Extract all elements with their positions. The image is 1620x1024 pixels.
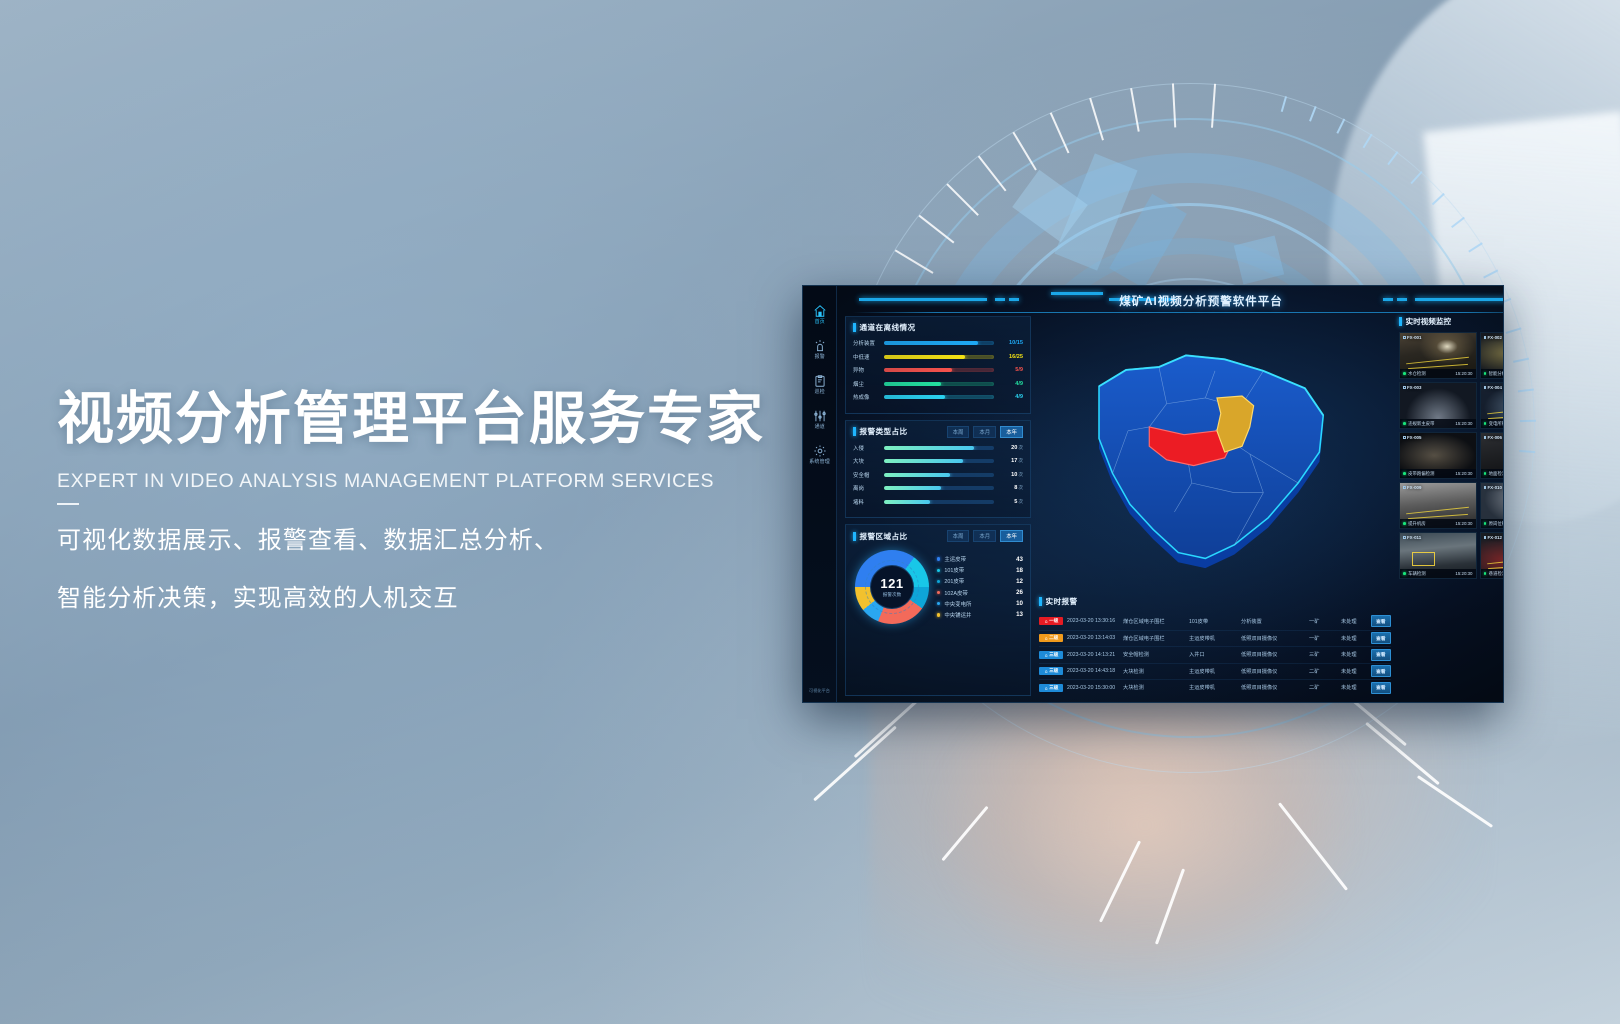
channel-status-header: 通道在离线情况 bbox=[853, 322, 1023, 333]
video-panel-header: 实时视频监控 上一页 下一页 bbox=[1399, 316, 1504, 327]
hero-divider bbox=[57, 503, 79, 505]
camera-icon bbox=[1403, 336, 1406, 339]
legend-value: 26 bbox=[1009, 589, 1023, 596]
online-status-dot bbox=[1403, 372, 1406, 375]
detection-box bbox=[1503, 548, 1504, 563]
decor-tick-small bbox=[1281, 96, 1287, 112]
decor-beam-5 bbox=[1099, 840, 1141, 922]
alarm-type-fill bbox=[884, 459, 963, 463]
sidebar-item-system-label: 系统管理 bbox=[809, 459, 830, 465]
camera-icon bbox=[1484, 336, 1487, 339]
camera-icon bbox=[1403, 436, 1406, 439]
channel-status-panel: 通道在离线情况 分析装置10/15中低速16/25异物5/9烟尘4/9热成像4/… bbox=[845, 316, 1031, 414]
alarm-mine: 二矿 bbox=[1309, 684, 1337, 691]
decor-tick bbox=[1130, 88, 1140, 132]
title-accent-bar bbox=[853, 532, 856, 541]
title-accent-bar bbox=[853, 427, 856, 436]
decor-tick bbox=[1050, 112, 1070, 153]
camera-icon bbox=[1403, 386, 1406, 389]
legend-item[interactable]: 中央变电所10 bbox=[937, 600, 1023, 608]
legend-item[interactable]: 主运皮带43 bbox=[937, 555, 1023, 563]
channel-status-row: 异物5/9 bbox=[853, 366, 1023, 374]
detection-box bbox=[1503, 348, 1504, 363]
decor-shard-1 bbox=[1054, 153, 1137, 270]
video-name: 巷道检测 bbox=[1489, 571, 1504, 577]
status-badge: 三级 bbox=[1039, 651, 1063, 659]
alarm-area-header: 报警区域占比 本周本月本年 bbox=[853, 530, 1023, 542]
channel-row-track bbox=[884, 395, 994, 399]
alarm-type-row: 安全帽10次 bbox=[853, 471, 1023, 479]
realtime-alarm-title: 实时报警 bbox=[1046, 596, 1078, 607]
donut-total-value: 121 bbox=[880, 576, 903, 591]
decor-beam-1 bbox=[813, 726, 897, 802]
decor-tick-small bbox=[1483, 269, 1498, 278]
legend-value: 43 bbox=[1009, 556, 1023, 563]
decor-tick-small bbox=[1513, 358, 1529, 363]
sidebar-item-inspection[interactable]: 巡检 bbox=[813, 374, 827, 395]
tab-本年[interactable]: 本年 bbox=[1000, 426, 1023, 438]
video-tile[interactable]: FX-003违规新主皮带15:20:30 bbox=[1399, 382, 1477, 429]
decor-tick-small bbox=[1410, 171, 1422, 184]
alarm-type-list: 入侵20次大块17次安全帽10次离岗8次堵料5次 bbox=[853, 444, 1023, 506]
table-row[interactable]: 二级2023-03-20 13:14:03煤仓区域电子围栏主运皮带机低照双目摄像… bbox=[1039, 630, 1391, 647]
decor-shard-3 bbox=[1234, 236, 1284, 285]
header-underline bbox=[853, 312, 1504, 313]
channel-row-value: 16/25 bbox=[999, 354, 1023, 360]
alarm-position: 101皮带 bbox=[1189, 618, 1237, 625]
channel-row-value: 5/9 bbox=[999, 367, 1023, 373]
decor-beam-6 bbox=[1155, 868, 1185, 944]
alarm-type-fill bbox=[884, 446, 974, 450]
camera-id: FX-004 bbox=[1484, 385, 1502, 390]
dashboard-main: 煤矿AI视频分析预警软件平台 通道在离线情况 分析装置10/15中低速16/25… bbox=[837, 286, 1504, 702]
camera-icon bbox=[1484, 486, 1487, 489]
alarm-action: 查看 bbox=[1371, 632, 1391, 644]
video-tile[interactable]: FX-002智能分析检测15:20:30 bbox=[1480, 332, 1505, 379]
decor-tick-small bbox=[1506, 327, 1522, 334]
video-tile[interactable]: FX-009提升机房15:20:30 bbox=[1399, 482, 1477, 529]
alarm-status: 未处理 bbox=[1341, 618, 1367, 625]
page-title: 视频分析管理平台服务专家 bbox=[57, 388, 817, 452]
video-tile[interactable]: FX-004变电所检测15:20:30 bbox=[1480, 382, 1505, 429]
decor-tick bbox=[919, 215, 955, 244]
online-status-dot bbox=[1484, 422, 1487, 425]
legend-label: 201皮带 bbox=[944, 577, 1005, 585]
legend-value: 13 bbox=[1009, 611, 1023, 618]
legend-color-dot bbox=[937, 602, 940, 605]
alarm-type-panel: 报警类型占比 本周本月本年 入侵20次大块17次安全帽10次离岗8次堵料5次 bbox=[845, 420, 1031, 519]
tab-本年[interactable]: 本年 bbox=[1000, 530, 1023, 542]
channel-status-title: 通道在离线情况 bbox=[860, 322, 916, 333]
channel-row-label: 分析装置 bbox=[853, 339, 879, 347]
video-name: 水仓检测 bbox=[1408, 371, 1426, 377]
decor-tick-small bbox=[1309, 106, 1317, 122]
alarm-time: 2023-03-20 15:30:00 bbox=[1067, 685, 1119, 691]
channel-row-fill bbox=[884, 382, 941, 386]
online-status-dot bbox=[1484, 372, 1487, 375]
alarm-type-fill bbox=[884, 486, 941, 490]
realtime-alarm-header: 实时报警 bbox=[1039, 596, 1391, 607]
alarm-device: 低照双目摄像仪 bbox=[1241, 668, 1305, 675]
legend-label: 中央变电所 bbox=[944, 600, 1005, 608]
camera-id: FX-006 bbox=[1484, 435, 1502, 440]
alarm-type-track bbox=[884, 500, 994, 504]
alarm-type-label: 大块 bbox=[853, 457, 879, 465]
camera-id-label: FX-010 bbox=[1488, 485, 1502, 490]
online-status-dot bbox=[1403, 422, 1406, 425]
channel-status-row: 分析装置10/15 bbox=[853, 339, 1023, 347]
camera-id-label: FX-005 bbox=[1407, 435, 1421, 440]
video-timestamp: 15:20:30 bbox=[1455, 421, 1472, 426]
video-tile[interactable]: FX-001水仓检测15:20:30 bbox=[1399, 332, 1477, 379]
donut-chart: 121 报警次数 bbox=[855, 550, 929, 624]
alarm-type: 煤仓区域电子围栏 bbox=[1123, 635, 1185, 642]
alarm-time: 2023-03-20 13:14:03 bbox=[1067, 635, 1119, 641]
table-row[interactable]: 一级2023-03-20 13:30:16煤仓区域电子围栏101皮带分析装置一矿… bbox=[1039, 613, 1391, 630]
decor-beam-4 bbox=[1365, 722, 1440, 785]
channel-row-label: 热成像 bbox=[853, 393, 879, 401]
channel-status-row: 中低速16/25 bbox=[853, 353, 1023, 361]
alarm-type-track bbox=[884, 446, 994, 450]
alarm-action: 查看 bbox=[1371, 665, 1391, 677]
channel-row-track bbox=[884, 368, 994, 372]
legend-item[interactable]: 201皮带12 bbox=[937, 577, 1023, 585]
right-column: 实时视频监控 上一页 下一页 FX-001水仓检测15:20:30FX-002智… bbox=[1399, 316, 1504, 696]
channel-row-value: 4/9 bbox=[999, 381, 1023, 387]
legend-color-dot bbox=[937, 580, 940, 583]
detection-line bbox=[1487, 407, 1504, 414]
decor-tick bbox=[1012, 132, 1036, 171]
alarm-status: 未处理 bbox=[1341, 668, 1367, 675]
alarm-action: 查看 bbox=[1371, 615, 1391, 627]
camera-id-label: FX-012 bbox=[1488, 535, 1502, 540]
decor-tick bbox=[1089, 98, 1104, 141]
sidebar-item-home[interactable]: 首页 bbox=[813, 304, 827, 325]
video-timestamp: 15:20:30 bbox=[1455, 471, 1472, 476]
sidebar-item-inspection-label: 巡检 bbox=[814, 389, 824, 395]
status-badge-label: 一级 bbox=[1049, 618, 1058, 624]
channel-row-track bbox=[884, 355, 994, 359]
channel-row-value: 10/15 bbox=[999, 340, 1023, 346]
decor-tick-small bbox=[1336, 119, 1345, 134]
legend-color-dot bbox=[937, 569, 940, 572]
channel-row-track bbox=[884, 382, 994, 386]
camera-id: FX-002 bbox=[1484, 335, 1502, 340]
alarm-mine: 三矿 bbox=[1309, 651, 1337, 658]
tab-本月[interactable]: 本月 bbox=[973, 530, 996, 542]
view-button[interactable]: 查看 bbox=[1371, 632, 1391, 644]
online-status-dot bbox=[1484, 472, 1487, 475]
sidebar-item-home-label: 首页 bbox=[814, 319, 824, 325]
channel-row-track bbox=[884, 341, 994, 345]
status-badge-label: 二级 bbox=[1049, 635, 1058, 641]
legend-color-dot bbox=[937, 557, 940, 560]
home-icon bbox=[813, 304, 827, 318]
decor-shard-2 bbox=[1109, 194, 1187, 288]
sidebar-item-system[interactable]: 系统管理 bbox=[810, 444, 829, 465]
video-name: 原岗位检测 bbox=[1489, 521, 1504, 527]
online-status-dot bbox=[1403, 472, 1406, 475]
alarm-area-title: 报警区域占比 bbox=[860, 531, 908, 542]
channel-row-value: 4/9 bbox=[999, 394, 1023, 400]
camera-icon bbox=[1484, 536, 1487, 539]
alarm-bell-icon bbox=[1044, 686, 1049, 691]
alarm-bell-icon bbox=[1044, 619, 1049, 624]
video-footer: 巷道检测15:20:30 bbox=[1481, 569, 1505, 578]
legend-label: 101皮带 bbox=[944, 566, 1005, 574]
legend-color-dot bbox=[937, 613, 940, 616]
camera-id-label: FX-011 bbox=[1407, 535, 1421, 540]
hand-photo-blur-inner bbox=[930, 690, 1360, 990]
alarm-type-value: 10次 bbox=[999, 472, 1023, 478]
sidebar-item-alarm-label: 报警 bbox=[814, 354, 824, 360]
alarm-type-value: 5次 bbox=[999, 499, 1023, 505]
video-footer: 智能分析检测15:20:30 bbox=[1481, 369, 1505, 378]
status-badge-label: 三级 bbox=[1049, 652, 1058, 658]
sidebar-watermark-label: 可视化平台 bbox=[809, 688, 830, 694]
alarm-type: 大块检测 bbox=[1123, 668, 1185, 675]
video-tile[interactable]: FX-006地面检测15:20:30 bbox=[1480, 432, 1505, 479]
title-accent-bar bbox=[853, 323, 856, 332]
video-tile[interactable]: FX-011车辆检测15:20:30 bbox=[1399, 532, 1477, 579]
dashboard-screen: 首页 报警 巡检 bbox=[803, 286, 1503, 702]
realtime-alarm-table: 一级2023-03-20 13:30:16煤仓区域电子围栏101皮带分析装置一矿… bbox=[1039, 613, 1391, 696]
status-badge: 三级 bbox=[1039, 667, 1063, 675]
alarm-type-row: 离岗8次 bbox=[853, 484, 1023, 492]
tab-本周[interactable]: 本周 bbox=[947, 426, 970, 438]
camera-id-label: FX-003 bbox=[1407, 385, 1421, 390]
decor-tick-small bbox=[1518, 389, 1534, 393]
video-footer: 地面检测15:20:30 bbox=[1481, 469, 1505, 478]
alarm-type-value: 17次 bbox=[999, 458, 1023, 464]
decor-tick-small bbox=[1520, 420, 1536, 422]
camera-id: FX-011 bbox=[1403, 535, 1421, 540]
decor-tick-small bbox=[1468, 242, 1483, 252]
detection-line bbox=[1406, 357, 1469, 364]
alarm-area-panel: 报警区域占比 本周本月本年 121 报警次数 bbox=[845, 524, 1031, 696]
gear-icon bbox=[813, 444, 827, 458]
alarm-mine: 二矿 bbox=[1309, 668, 1337, 675]
table-row[interactable]: 三级2023-03-20 15:30:00大块检测主运皮带机低照双目摄像仪二矿未… bbox=[1039, 679, 1391, 696]
status-badge: 三级 bbox=[1039, 684, 1063, 692]
alarm-type-fill bbox=[884, 500, 930, 504]
clipboard-check-icon bbox=[813, 374, 827, 388]
sidebar: 首页 报警 巡检 bbox=[803, 286, 837, 702]
channel-row-fill bbox=[884, 341, 978, 345]
detection-box bbox=[1412, 552, 1435, 566]
alarm-position: 主运皮带机 bbox=[1189, 684, 1237, 691]
camera-id: FX-010 bbox=[1484, 485, 1502, 490]
video-timestamp: 15:20:30 bbox=[1455, 571, 1472, 576]
camera-icon bbox=[1484, 436, 1487, 439]
region-map[interactable] bbox=[1037, 316, 1393, 592]
center-column: 实时报警 一级2023-03-20 13:30:16煤仓区域电子围栏101皮带分… bbox=[1037, 316, 1393, 696]
legend-label: 102A皮带 bbox=[944, 589, 1005, 597]
alarm-mine: 一矿 bbox=[1309, 618, 1337, 625]
alarm-bell-icon bbox=[1044, 653, 1049, 658]
camera-id-label: FX-004 bbox=[1488, 385, 1502, 390]
camera-id-label: FX-001 bbox=[1407, 335, 1421, 340]
alarm-type-value: 20次 bbox=[999, 445, 1023, 451]
online-status-dot bbox=[1484, 522, 1487, 525]
alarm-time: 2023-03-20 14:43:18 bbox=[1067, 668, 1119, 674]
alarm-type: 煤仓区域电子围栏 bbox=[1123, 618, 1185, 625]
video-footer: 车辆检测15:20:30 bbox=[1400, 569, 1476, 578]
video-name: 智能分析检测 bbox=[1489, 371, 1504, 377]
donut-total-caption: 报警次数 bbox=[883, 592, 901, 598]
decor-tick-small bbox=[1519, 450, 1535, 453]
alarm-bell-icon bbox=[1044, 636, 1049, 641]
donut-legend: 主运皮带43101皮带18201皮带12102A皮带26中央变电所10中央铺运井… bbox=[935, 555, 1023, 619]
video-footer: 水仓检测15:20:30 bbox=[1400, 369, 1476, 378]
alarm-type-value: 8次 bbox=[999, 485, 1023, 491]
decor-tick bbox=[1172, 83, 1176, 127]
alarm-type: 安全帽检测 bbox=[1123, 651, 1185, 658]
alarm-device: 低照双目摄像仪 bbox=[1241, 651, 1305, 658]
online-status-dot bbox=[1403, 522, 1406, 525]
sidebar-item-channel[interactable]: 通道 bbox=[813, 409, 827, 430]
channel-row-fill bbox=[884, 395, 945, 399]
camera-icon bbox=[1403, 486, 1406, 489]
decor-beam-7 bbox=[1278, 802, 1348, 891]
decor-tick-small bbox=[1387, 151, 1398, 165]
hero-description-line-1: 可视化数据展示、报警查看、数据汇总分析、 bbox=[57, 519, 817, 563]
alarm-type-row: 堵料5次 bbox=[853, 498, 1023, 506]
alarm-time: 2023-03-20 14:13:21 bbox=[1067, 652, 1119, 658]
decor-tick bbox=[1211, 84, 1216, 128]
sidebar-watermark: 可视化平台 bbox=[809, 688, 830, 694]
dashboard-monitor: 首页 报警 巡检 bbox=[802, 285, 1504, 703]
channel-node-icon bbox=[813, 409, 827, 423]
alarm-type-title: 报警类型占比 bbox=[860, 426, 908, 437]
channel-row-label: 烟尘 bbox=[853, 380, 879, 388]
alarm-type-label: 堵料 bbox=[853, 498, 879, 506]
decor-tick bbox=[895, 249, 934, 273]
video-tile[interactable]: FX-010原岗位检测15:20:30 bbox=[1480, 482, 1505, 529]
donut-center: 121 报警次数 bbox=[870, 565, 914, 609]
channel-row-fill bbox=[884, 368, 952, 372]
camera-id: FX-009 bbox=[1403, 485, 1421, 490]
camera-id: FX-005 bbox=[1403, 435, 1421, 440]
alarm-status: 未处理 bbox=[1341, 651, 1367, 658]
video-footer: 变电所检测15:20:30 bbox=[1481, 419, 1505, 428]
alarm-type-header: 报警类型占比 本周本月本年 bbox=[853, 426, 1023, 438]
status-badge-label: 三级 bbox=[1049, 668, 1058, 674]
channel-status-list: 分析装置10/15中低速16/25异物5/9烟尘4/9热成像4/9 bbox=[853, 339, 1023, 401]
view-button[interactable]: 查看 bbox=[1371, 665, 1391, 677]
view-button[interactable]: 查看 bbox=[1371, 682, 1391, 694]
sidebar-item-alarm[interactable]: 报警 bbox=[813, 339, 827, 360]
realtime-alarm-panel: 实时报警 一级2023-03-20 13:30:16煤仓区域电子围栏101皮带分… bbox=[1037, 592, 1393, 696]
channel-status-row: 热成像4/9 bbox=[853, 393, 1023, 401]
channel-status-row: 烟尘4/9 bbox=[853, 380, 1023, 388]
legend-item[interactable]: 101皮带18 bbox=[937, 566, 1023, 574]
view-button[interactable]: 查看 bbox=[1371, 649, 1391, 661]
camera-icon bbox=[1403, 536, 1406, 539]
view-button[interactable]: 查看 bbox=[1371, 615, 1391, 627]
legend-color-dot bbox=[937, 591, 940, 594]
alarm-position: 入井口 bbox=[1189, 651, 1237, 658]
alarm-position: 主运皮带机 bbox=[1189, 668, 1237, 675]
legend-label: 主运皮带 bbox=[944, 555, 1005, 563]
alarm-bell-icon bbox=[1044, 669, 1049, 674]
decor-beam-8 bbox=[1417, 775, 1493, 828]
legend-label: 中央铺运井 bbox=[944, 611, 1005, 619]
decor-tick-small bbox=[1363, 134, 1373, 149]
tab-本周[interactable]: 本周 bbox=[947, 530, 970, 542]
status-badge: 二级 bbox=[1039, 634, 1063, 642]
alarm-type-row: 入侵20次 bbox=[853, 444, 1023, 452]
tab-本月[interactable]: 本月 bbox=[973, 426, 996, 438]
channel-row-fill bbox=[884, 355, 965, 359]
alarm-type-fill bbox=[884, 473, 950, 477]
alarm-type-label: 安全帽 bbox=[853, 471, 879, 479]
hero-subtitle: EXPERT IN VIDEO ANALYSIS MANAGEMENT PLAT… bbox=[57, 470, 817, 493]
table-row[interactable]: 三级2023-03-20 14:43:18大块检测主运皮带机低照双目摄像仪二矿未… bbox=[1039, 663, 1391, 680]
video-timestamp: 15:20:30 bbox=[1455, 521, 1472, 526]
alarm-area-tabs[interactable]: 本周本月本年 bbox=[947, 530, 1023, 542]
alarm-position: 主运皮带机 bbox=[1189, 635, 1237, 642]
video-timestamp: 15:20:30 bbox=[1455, 371, 1472, 376]
video-panel-title: 实时视频监控 bbox=[1406, 316, 1452, 327]
hero-copy: 视频分析管理平台服务专家 EXPERT IN VIDEO ANALYSIS MA… bbox=[57, 388, 817, 622]
camera-id: FX-001 bbox=[1403, 335, 1421, 340]
camera-id-label: FX-002 bbox=[1488, 335, 1502, 340]
video-tile[interactable]: FX-005皮带跑偏检测15:20:30 bbox=[1399, 432, 1477, 479]
table-row[interactable]: 三级2023-03-20 14:13:21安全帽检测入井口低照双目摄像仪三矿未处… bbox=[1039, 646, 1391, 663]
camera-id-label: FX-006 bbox=[1488, 435, 1502, 440]
decor-beam-9 bbox=[941, 806, 988, 862]
decor-tick bbox=[978, 156, 1007, 192]
alarm-type-row: 大块17次 bbox=[853, 457, 1023, 465]
dashboard-header: 煤矿AI视频分析预警软件平台 bbox=[837, 286, 1504, 316]
legend-value: 12 bbox=[1009, 578, 1023, 585]
alarm-light-icon bbox=[813, 339, 827, 353]
decor-shard-6 bbox=[1012, 170, 1088, 242]
camera-id-label: FX-009 bbox=[1407, 485, 1421, 490]
legend-item[interactable]: 中央铺运井13 bbox=[937, 611, 1023, 619]
alarm-type-track bbox=[884, 486, 994, 490]
video-grid: FX-001水仓检测15:20:30FX-002智能分析检测15:20:30FX… bbox=[1399, 332, 1504, 579]
alarm-action: 查看 bbox=[1371, 649, 1391, 661]
video-name: 提升机房 bbox=[1408, 521, 1426, 527]
decor-tick-small bbox=[1451, 217, 1465, 228]
legend-value: 10 bbox=[1009, 600, 1023, 607]
alarm-type-tabs[interactable]: 本周本月本年 bbox=[947, 426, 1023, 438]
dashboard-title: 煤矿AI视频分析预警软件平台 bbox=[837, 293, 1504, 309]
alarm-status: 未处理 bbox=[1341, 635, 1367, 642]
channel-row-label: 异物 bbox=[853, 366, 879, 374]
video-tile[interactable]: FX-012巷道检测15:20:30 bbox=[1480, 532, 1505, 579]
decor-tick bbox=[946, 183, 979, 216]
video-footer: 皮带跑偏检测15:20:30 bbox=[1400, 469, 1476, 478]
alarm-type-label: 入侵 bbox=[853, 444, 879, 452]
camera-icon bbox=[1484, 386, 1487, 389]
camera-id: FX-012 bbox=[1484, 535, 1502, 540]
alarm-status: 未处理 bbox=[1341, 684, 1367, 691]
detection-box bbox=[1503, 448, 1504, 463]
camera-id: FX-003 bbox=[1403, 385, 1421, 390]
decor-tick-small bbox=[1432, 193, 1445, 205]
legend-item[interactable]: 102A皮带26 bbox=[937, 589, 1023, 597]
dashboard-body: 通道在离线情况 分析装置10/15中低速16/25异物5/9烟尘4/9热成像4/… bbox=[837, 316, 1504, 702]
video-name: 地面检测 bbox=[1489, 471, 1504, 477]
video-footer: 提升机房15:20:30 bbox=[1400, 519, 1476, 528]
video-name: 违规新主皮带 bbox=[1408, 421, 1434, 427]
status-badge-label: 三级 bbox=[1049, 685, 1058, 691]
alarm-device: 低照双目摄像仪 bbox=[1241, 635, 1305, 642]
title-accent-bar bbox=[1039, 597, 1042, 606]
